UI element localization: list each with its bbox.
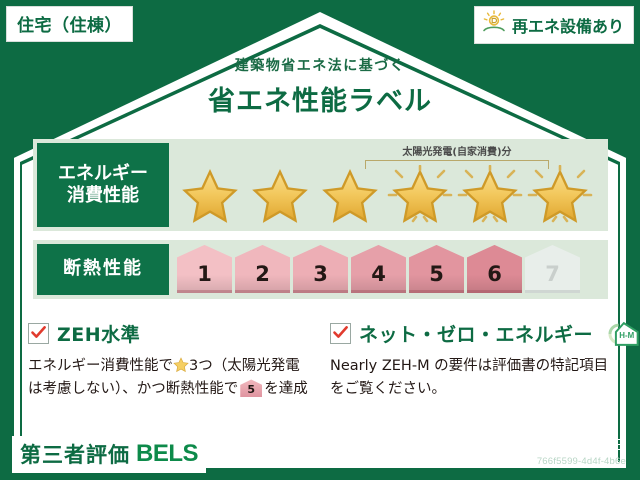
label-footer: 第三者評価 BELS CASA MUKAINO 評価日 2025年7月1日 76…	[0, 428, 640, 480]
star-cell	[527, 165, 593, 227]
criteria-zeh-standard: ZEH水準 エネルギー消費性能で3つ（太陽光発電は考慮しない）、かつ断熱性能で5…	[28, 320, 318, 402]
star-cell	[457, 165, 523, 227]
title-main: 省エネ性能ラベル	[0, 79, 640, 118]
star-cell	[387, 165, 453, 227]
insulation-grade-value: 5	[429, 262, 444, 293]
star-icon	[181, 169, 239, 225]
renewable-equipment-label: 再エネ設備あり	[512, 13, 624, 37]
red-check-icon	[28, 323, 49, 344]
star-cell	[317, 165, 383, 227]
inline-star-icon	[173, 357, 189, 373]
evaluation-date: 評価日 2025年7月1日	[484, 435, 626, 455]
building-name: CASA MUKAINO	[214, 446, 337, 466]
star-cell	[177, 165, 243, 227]
bels-jp-label: 第三者評価	[20, 439, 130, 469]
solar-annotation-label: 太陽光発電(自家消費)分	[365, 143, 549, 158]
star-icon	[321, 169, 379, 225]
renewable-equipment-chip: 再エネ設備あり	[474, 6, 634, 44]
energy-label-line1: エネルギー	[58, 163, 148, 186]
insulation-grade-7: 7	[525, 245, 580, 293]
star-cell	[247, 165, 313, 227]
insulation-grade-scale: 1234567	[177, 245, 580, 293]
insulation-rating-body: 1234567	[169, 240, 608, 299]
energy-performance-label: 住宅（住棟） 再エネ設備あり 建築物省エネ法に基づく 省エネ性能ラベル	[0, 0, 640, 480]
insulation-grade-6: 6	[467, 245, 522, 293]
red-check-icon	[330, 323, 351, 344]
criteria-left-text-3: は考慮しない）、かつ断熱性能で	[28, 381, 238, 397]
criteria-right-title: ネット・ゼロ・エネルギー	[359, 320, 593, 347]
insulation-grade-value: 6	[487, 262, 502, 293]
svg-text:H-M: H-M	[619, 330, 634, 339]
energy-star-rating	[177, 165, 593, 227]
star-icon	[461, 169, 519, 225]
insulation-grade-5: 5	[409, 245, 464, 293]
star-icon	[251, 169, 309, 225]
criteria-left-header: ZEH水準	[28, 320, 318, 347]
criteria-left-text: エネルギー消費性能で3つ（太陽光発電は考慮しない）、かつ断熱性能で5を達成	[28, 355, 318, 402]
insulation-grade-3: 3	[293, 245, 348, 293]
evaluation-id: 766f5599-4d4f-4b6e	[537, 456, 626, 467]
bels-en-label: BELS	[136, 440, 198, 468]
insulation-grade-value: 4	[371, 262, 386, 293]
criteria-net-zero-energy: ネット・ゼロ・エネルギー H-M Nearly ZEH-M Nearly ZEH…	[330, 320, 618, 402]
solar-sun-icon	[481, 10, 507, 39]
insulation-grade-value: 2	[255, 262, 270, 293]
inline-house-badge-value: 5	[240, 381, 262, 399]
insulation-grade-1: 1	[177, 245, 232, 293]
energy-label-line2: 消費性能	[67, 185, 139, 208]
energy-performance-label: エネルギー 消費性能	[37, 143, 169, 227]
insulation-grade-4: 4	[351, 245, 406, 293]
insulation-grade-value: 3	[313, 262, 328, 293]
dwelling-type-label: 住宅（住棟）	[17, 11, 122, 36]
insulation-performance-row: 断熱性能 1234567	[33, 240, 608, 299]
dwelling-type-chip: 住宅（住棟）	[6, 6, 133, 42]
energy-rating-body: 太陽光発電(自家消費)分	[169, 139, 608, 231]
inline-house-badge-icon: 5	[240, 379, 262, 397]
criteria-left-title: ZEH水準	[57, 320, 140, 347]
nearly-zeh-m-house-logo: H-M Nearly ZEH-M	[607, 321, 640, 347]
criteria-left-text-2: 3つ（太陽光発電	[189, 358, 300, 374]
energy-performance-row: エネルギー 消費性能 太陽光発電(自家消費)分	[33, 139, 608, 231]
bels-certification-chip: 第三者評価 BELS	[12, 436, 206, 473]
star-icon	[531, 169, 589, 225]
title-subtitle: 建築物省エネ法に基づく	[0, 55, 640, 75]
criteria-right-header: ネット・ゼロ・エネルギー H-M Nearly ZEH-M	[330, 320, 618, 347]
criteria-left-text-1: エネルギー消費性能で	[28, 358, 173, 374]
insulation-grade-value: 7	[545, 262, 560, 293]
insulation-performance-label: 断熱性能	[37, 244, 169, 295]
criteria-right-text: Nearly ZEH-M の要件は評価書の特記項目をご覧ください。	[330, 355, 618, 402]
label-title-block: 建築物省エネ法に基づく 省エネ性能ラベル	[0, 55, 640, 118]
star-icon	[391, 169, 449, 225]
insulation-grade-value: 1	[197, 262, 212, 293]
criteria-left-text-4: を達成	[264, 381, 308, 397]
insulation-grade-2: 2	[235, 245, 290, 293]
